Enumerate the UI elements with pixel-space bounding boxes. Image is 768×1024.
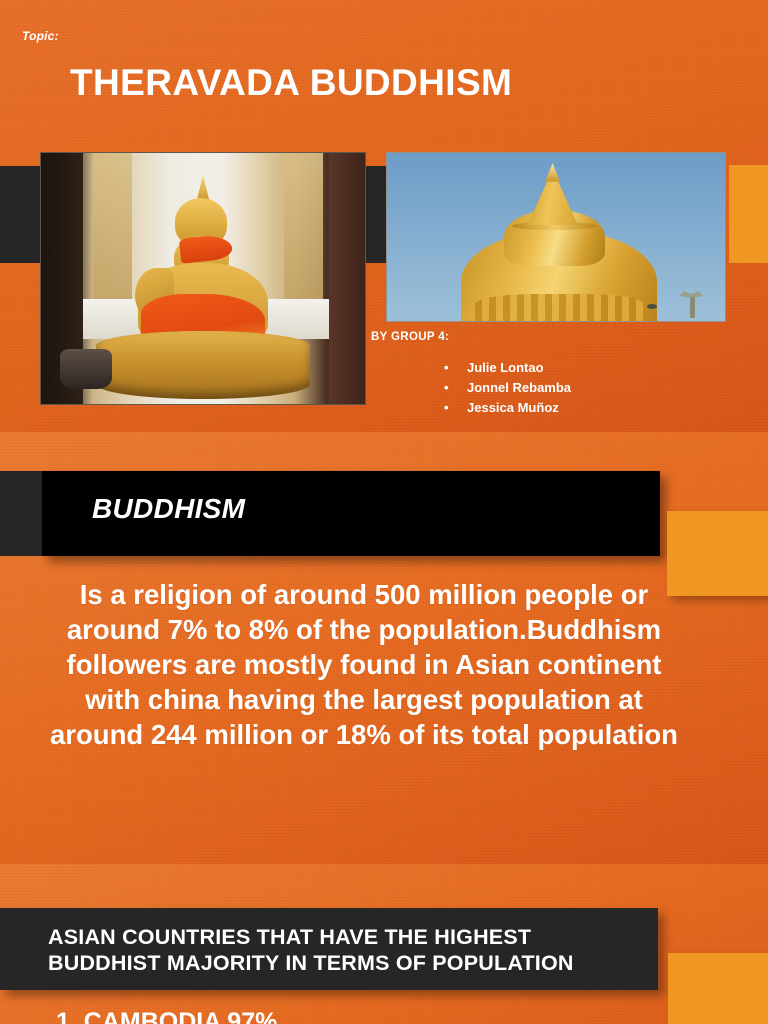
by-group-label: BY GROUP 4: — [371, 331, 449, 343]
page-title: THERAVADA BUDDHISM — [70, 62, 512, 104]
bullet-icon: • — [444, 398, 449, 418]
heading-bar-dark-tail — [0, 471, 42, 556]
golden-pagoda-photo — [386, 152, 726, 322]
bullet-icon: • — [444, 358, 449, 378]
slide-heading-bar: ASIAN COUNTRIES THAT HAVE THE HIGHEST BU… — [0, 908, 768, 1000]
buddha-statue-illustration — [41, 153, 365, 404]
body-paragraph: Is a religion of around 500 million peop… — [36, 577, 692, 752]
heading-bar-black: BUDDHISM — [42, 471, 660, 556]
slide-deck-viewer[interactable]: Topic: THERAVADA BUDDHISM — [0, 0, 768, 1024]
buddha-statue-photo — [40, 152, 366, 405]
country-percentage-list: 1. CAMBODIA 97% — [56, 1006, 277, 1024]
slide-buddhism: BUDDHISM Is a religion of around 500 mil… — [0, 432, 768, 864]
slide-title: Topic: THERAVADA BUDDHISM — [0, 0, 768, 432]
list-item: • Jonnel Rebamba — [440, 378, 571, 398]
accent-block-amber — [668, 953, 768, 1024]
slide-heading-bar: BUDDHISM — [0, 471, 768, 563]
member-name: Jessica Muñoz — [467, 400, 559, 415]
slide-heading-buddhism: BUDDHISM — [92, 493, 245, 525]
heading-bar-gray: ASIAN COUNTRIES THAT HAVE THE HIGHEST BU… — [0, 908, 658, 990]
group-member-list: • Julie Lontao • Jonnel Rebamba • Jessic… — [440, 358, 571, 418]
bullet-icon: • — [444, 378, 449, 398]
topic-label: Topic: — [22, 29, 59, 43]
pagoda-illustration — [387, 153, 725, 321]
list-item: • Jessica Muñoz — [440, 398, 571, 418]
slide-heading-asian-countries: ASIAN COUNTRIES THAT HAVE THE HIGHEST BU… — [48, 924, 648, 976]
list-item: 1. CAMBODIA 97% — [56, 1006, 277, 1024]
member-name: Julie Lontao — [467, 360, 544, 375]
slide-asian-countries: ASIAN COUNTRIES THAT HAVE THE HIGHEST BU… — [0, 864, 768, 1024]
accent-block-amber — [729, 165, 768, 263]
list-item: • Julie Lontao — [440, 358, 571, 378]
member-name: Jonnel Rebamba — [467, 380, 571, 395]
